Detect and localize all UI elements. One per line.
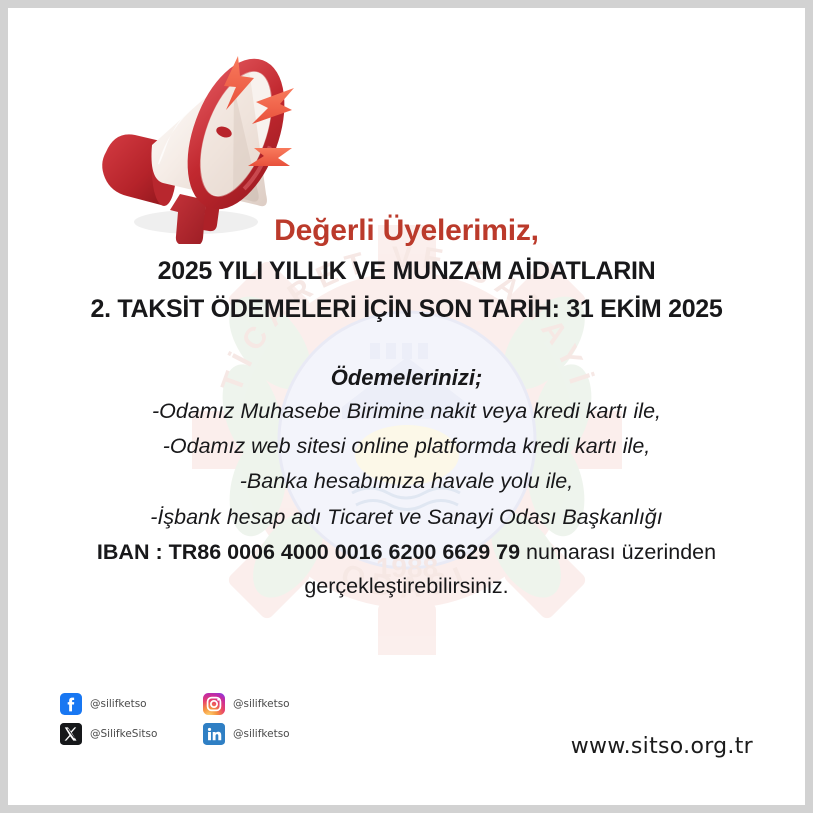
payment-option-1: -Odamız Muhasebe Birimine nakit veya kre… [8, 399, 805, 424]
social-item-linkedin[interactable]: @silifketso [203, 723, 328, 745]
payment-option-3: -Banka hesabımıza havale yolu ile, [8, 469, 805, 494]
social-item-facebook[interactable]: @silifketso [60, 693, 185, 715]
headline-line-1: 2025 YILI YILLIK VE MUNZAM AİDATLARIN [8, 257, 805, 286]
linkedin-icon[interactable] [203, 723, 225, 745]
instagram-icon[interactable] [203, 693, 225, 715]
payment-option-2: -Odamız web sitesi online platformda kre… [8, 434, 805, 459]
social-item-instagram[interactable]: @silifketso [203, 693, 328, 715]
facebook-handle: @silifketso [90, 698, 147, 710]
social-links: @silifketso @silifketso [60, 693, 328, 745]
x-twitter-icon[interactable] [60, 723, 82, 745]
x-twitter-handle: @SilifkeSitso [90, 728, 157, 740]
facebook-icon[interactable] [60, 693, 82, 715]
closing-line: gerçekleştirebilirsiniz. [8, 574, 805, 599]
hero-title: Değerli Üyelerimiz, [8, 214, 805, 248]
social-item-x-twitter[interactable]: @SilifkeSitso [60, 723, 185, 745]
iban-suffix: numarası üzerinden [520, 540, 716, 564]
poster-canvas: TİCARET VE SANAYİ ODASI 1988 [8, 8, 805, 805]
instagram-handle: @silifketso [233, 698, 290, 710]
iban-number: IBAN : TR86 0006 4000 0016 6200 6629 79 [97, 540, 520, 564]
linkedin-handle: @silifketso [233, 728, 290, 740]
iban-line: IBAN : TR86 0006 4000 0016 6200 6629 79 … [8, 540, 805, 565]
headline-line-2: 2. TAKSİT ÖDEMELERİ İÇİN SON TARİH: 31 E… [8, 295, 805, 324]
payment-option-4: -İşbank hesap adı Ticaret ve Sanayi Odas… [8, 505, 805, 530]
website-url[interactable]: www.sitso.org.tr [571, 734, 753, 759]
payment-subheading: Ödemelerinizi; [8, 365, 805, 391]
